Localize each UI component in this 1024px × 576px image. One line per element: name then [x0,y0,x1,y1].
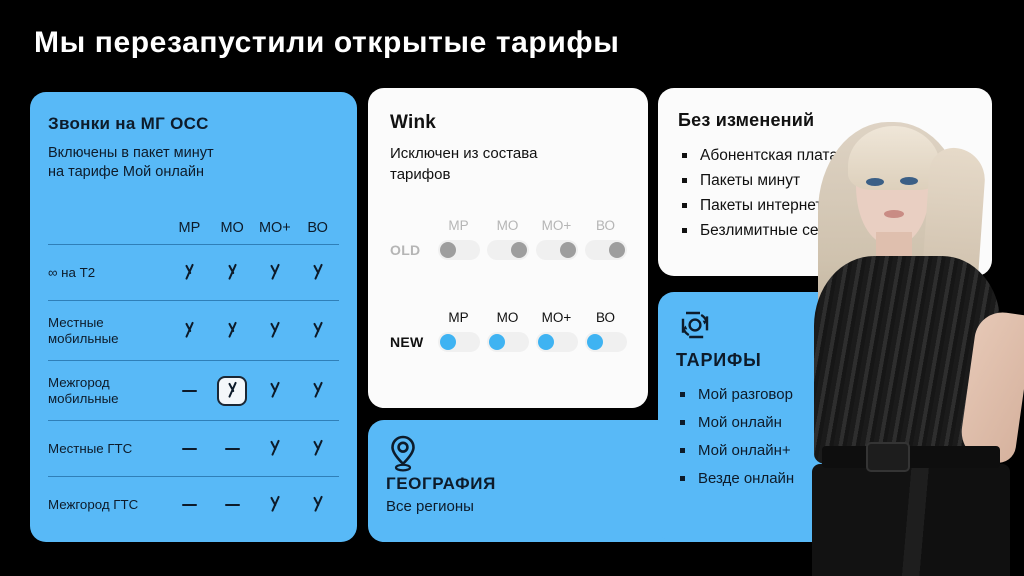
row-cell [211,448,254,450]
list-item: Абонентская плата [678,143,972,168]
toggle-knob [538,334,554,350]
calls-col-header-mo: МО [211,220,254,236]
check-icon [266,322,284,340]
toggle-knob [440,242,456,258]
table-row: Межгород ГТС [48,476,339,532]
checkbox-highlighted[interactable] [217,376,247,406]
dash-icon [182,448,197,450]
table-row: Местные ГТС [48,420,339,476]
dash-icon [225,448,240,450]
row-cell [296,382,339,400]
wink-old-col-mo: МО [483,218,532,233]
wink-new-group: МР МО МО+ ВО NEW [390,310,630,352]
row-label-line2: мобильные [48,391,119,406]
wink-old-col-vo: ВО [581,218,630,233]
calls-card: Звонки на МГ ОСС Включены в пакет минут … [30,92,357,542]
check-icon [180,264,198,282]
no-changes-title: Без изменений [678,110,972,131]
wink-old-col-mop: МО+ [532,218,581,233]
row-cell [296,440,339,458]
row-cell [168,504,211,506]
wink-new-label: NEW [390,334,434,350]
calls-subtitle-line-2: на тарифе Мой онлайн [48,163,339,182]
toggle-old-vo[interactable] [585,240,627,260]
wink-new-col-mop: МО+ [532,310,581,325]
row-cell [254,322,297,340]
table-row: ∞ на Т2 [48,244,339,300]
row-cell [211,504,254,506]
check-icon [223,322,241,340]
toggle-new-mo[interactable] [487,332,529,352]
row-cell [254,264,297,282]
tariffs-title: ТАРИФЫ [676,350,974,371]
dash-icon [225,504,240,506]
calls-card-title: Звонки на МГ ОСС [48,114,339,134]
list-item: Мой онлайн+ [676,437,974,465]
list-item: Везде онлайн [676,465,974,493]
list-item: Мой онлайн [676,409,974,437]
wink-old-row: OLD [390,240,630,260]
check-icon [266,496,284,514]
no-changes-list: Абонентская плата Пакеты минут Пакеты ин… [678,143,972,243]
wink-new-row: NEW [390,332,630,352]
row-label-line1: Межгород [48,375,110,390]
row-cell [296,322,339,340]
list-item: Безлимитные сервисы [678,218,972,243]
row-label: Межгород ГТС [48,497,168,513]
row-cell [254,496,297,514]
wink-subtitle-line-2: тарифов [390,164,626,185]
check-icon [309,496,327,514]
toggle-knob [560,242,576,258]
wink-old-group: МР МО МО+ ВО OLD [390,218,630,260]
row-label: Местные ГТС [48,441,168,457]
page-title: Мы перезапустили открытые тарифы [34,26,619,60]
toggle-old-mo[interactable] [487,240,529,260]
check-icon [309,440,327,458]
calls-col-header-mr: МР [168,220,211,236]
calls-col-header-vo: ВО [296,220,339,236]
check-icon [309,264,327,282]
row-cell [211,264,254,282]
row-cell [168,390,211,392]
toggle-knob [511,242,527,258]
row-label: Межгород мобильные [48,375,168,407]
calls-table-header: МР МО МО+ ВО [48,212,339,244]
table-row: Местные мобильные [48,300,339,360]
tariffs-card: ТАРИФЫ Мой разговор Мой онлайн Мой онлай… [658,292,992,542]
toggle-knob [489,334,505,350]
wink-old-headers: МР МО МО+ ВО [434,218,630,233]
row-cell [168,322,211,340]
check-icon [266,382,284,400]
wink-subtitle-line-1: Исключен из состава [390,143,626,164]
row-cell [296,264,339,282]
wink-card-subtitle: Исключен из состава тарифов [390,143,626,185]
row-cell [254,440,297,458]
dash-icon [182,504,197,506]
calls-subtitle-line-1: Включены в пакет минут [48,144,339,163]
list-item: Пакеты интернета [678,193,972,218]
row-cell [254,382,297,400]
toggle-knob [609,242,625,258]
check-icon [309,382,327,400]
row-cell [168,264,211,282]
wink-new-col-mo: МО [483,310,532,325]
row-cell [296,496,339,514]
wink-new-headers: МР МО МО+ ВО [434,310,630,325]
refresh-tariff-icon [676,306,974,344]
row-label-line1: Местные [48,315,104,330]
dash-icon [182,390,197,392]
calls-col-header-mop: МО+ [254,220,297,236]
slide-root: Мы перезапустили открытые тарифы Звонки … [0,0,1024,576]
check-icon [223,264,241,282]
toggle-old-mr[interactable] [438,240,480,260]
check-icon [180,322,198,340]
toggle-knob [440,334,456,350]
row-cell [168,448,211,450]
check-icon [223,382,241,400]
row-cell [211,322,254,340]
wink-card-title: Wink [390,112,626,134]
row-label: Местные мобильные [48,315,168,347]
toggle-new-mop[interactable] [536,332,578,352]
row-label-line2: мобильные [48,331,119,346]
tariffs-list: Мой разговор Мой онлайн Мой онлайн+ Везд… [676,381,974,493]
list-item: Мой разговор [676,381,974,409]
check-icon [266,264,284,282]
toggle-old-mop[interactable] [536,240,578,260]
toggle-new-mr[interactable] [438,332,480,352]
wink-new-col-vo: ВО [581,310,630,325]
row-label: ∞ на Т2 [48,265,168,281]
no-changes-card: Без изменений Абонентская плата Пакеты м… [658,88,992,276]
row-cell-highlighted[interactable] [211,376,254,406]
wink-new-col-mr: МР [434,310,483,325]
list-item: Пакеты минут [678,168,972,193]
toggle-new-vo[interactable] [585,332,627,352]
calls-table: МР МО МО+ ВО ∞ на Т2 Местные мобильные [48,212,339,532]
table-row: Межгород мобильные [48,360,339,420]
toggle-knob [587,334,603,350]
wink-old-label: OLD [390,242,434,258]
wink-card: Wink Исключен из состава тарифов МР МО М… [368,88,648,408]
wink-old-col-mr: МР [434,218,483,233]
calls-card-subtitle: Включены в пакет минут на тарифе Мой онл… [48,144,339,182]
check-icon [309,322,327,340]
check-icon [266,440,284,458]
